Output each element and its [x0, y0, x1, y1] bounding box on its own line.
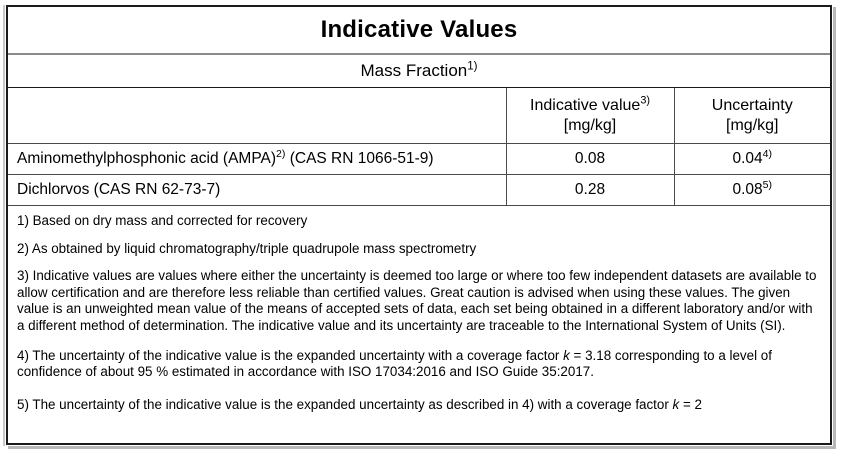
table-row: Aminomethylphosphonic acid (AMPA)2) (CAS…	[8, 144, 830, 175]
footnote-5-text-a: 5) The uncertainty of the indicative val…	[17, 397, 673, 412]
uncertainty-value: 0.08	[732, 181, 762, 198]
analyte-name-dichlorvos: Dichlorvos (CAS RN 62-73-7)	[8, 175, 506, 206]
uncertainty-value: 0.04	[732, 150, 762, 167]
page-title: Indicative Values	[8, 7, 830, 54]
analyte-name-part2: (CAS RN 1066-51-9)	[285, 150, 433, 167]
footnote-4-text-a: 4) The uncertainty of the indicative val…	[17, 348, 563, 363]
column-header-indicative-value-units: [mg/kg]	[564, 117, 616, 134]
analyte-name-footnote-marker: 2)	[276, 148, 285, 160]
uncertainty-footnote-marker: 5)	[763, 179, 772, 191]
analyte-name-part1: Aminomethylphosphonic acid (AMPA)	[17, 150, 276, 167]
indicative-values-table: Indicative Values Mass Fraction1) Indica…	[8, 7, 830, 417]
indicative-values-table-frame: Indicative Values Mass Fraction1) Indica…	[6, 5, 832, 445]
uncertainty-ampa: 0.044)	[674, 144, 830, 175]
column-header-indicative-value-footnote-marker: 3)	[640, 94, 650, 106]
column-header-uncertainty: Uncertainty[mg/kg]	[674, 88, 830, 144]
section-header-label: Mass Fraction	[360, 61, 467, 80]
frame-shadow-bottom	[8, 446, 836, 449]
footnote-4-symbol-k: k	[563, 348, 570, 363]
section-header-mass-fraction: Mass Fraction1)	[8, 54, 830, 88]
footnote-5-text-b: = 2	[679, 397, 702, 412]
uncertainty-footnote-marker: 4)	[763, 148, 772, 160]
page-root: Indicative Values Mass Fraction1) Indica…	[0, 0, 844, 459]
footnote-1: 1) Based on dry mass and corrected for r…	[17, 213, 821, 230]
footnote-3: 3) Indicative values are values where ei…	[17, 268, 821, 334]
column-header-uncertainty-label: Uncertainty	[712, 97, 793, 114]
table-section-row: Mass Fraction1)	[8, 54, 830, 88]
footnote-5: 5) The uncertainty of the indicative val…	[17, 397, 821, 414]
table-title-row: Indicative Values	[8, 7, 830, 54]
section-header-footnote-marker: 1)	[467, 60, 477, 72]
column-header-indicative-value: Indicative value3)[mg/kg]	[506, 88, 674, 144]
uncertainty-dichlorvos: 0.085)	[674, 175, 830, 206]
analyte-name-part1: Dichlorvos (CAS RN 62-73-7)	[17, 181, 220, 198]
column-header-indicative-value-label: Indicative value	[530, 97, 640, 114]
analyte-name-ampa: Aminomethylphosphonic acid (AMPA)2) (CAS…	[8, 144, 506, 175]
column-header-analyte	[8, 88, 506, 144]
footnote-4: 4) The uncertainty of the indicative val…	[17, 348, 821, 381]
column-header-uncertainty-units: [mg/kg]	[726, 117, 778, 134]
frame-shadow-left	[3, 5, 5, 446]
footnote-2: 2) As obtained by liquid chromatography/…	[17, 241, 821, 258]
table-footnotes-row: 1) Based on dry mass and corrected for r…	[8, 206, 830, 418]
footnotes-section: 1) Based on dry mass and corrected for r…	[8, 206, 830, 418]
table-row: Dichlorvos (CAS RN 62-73-7) 0.28 0.085)	[8, 175, 830, 206]
indicative-value-dichlorvos: 0.28	[506, 175, 674, 206]
indicative-value-ampa: 0.08	[506, 144, 674, 175]
table-header-row: Indicative value3)[mg/kg] Uncertainty[mg…	[8, 88, 830, 144]
frame-shadow-right	[833, 7, 836, 448]
